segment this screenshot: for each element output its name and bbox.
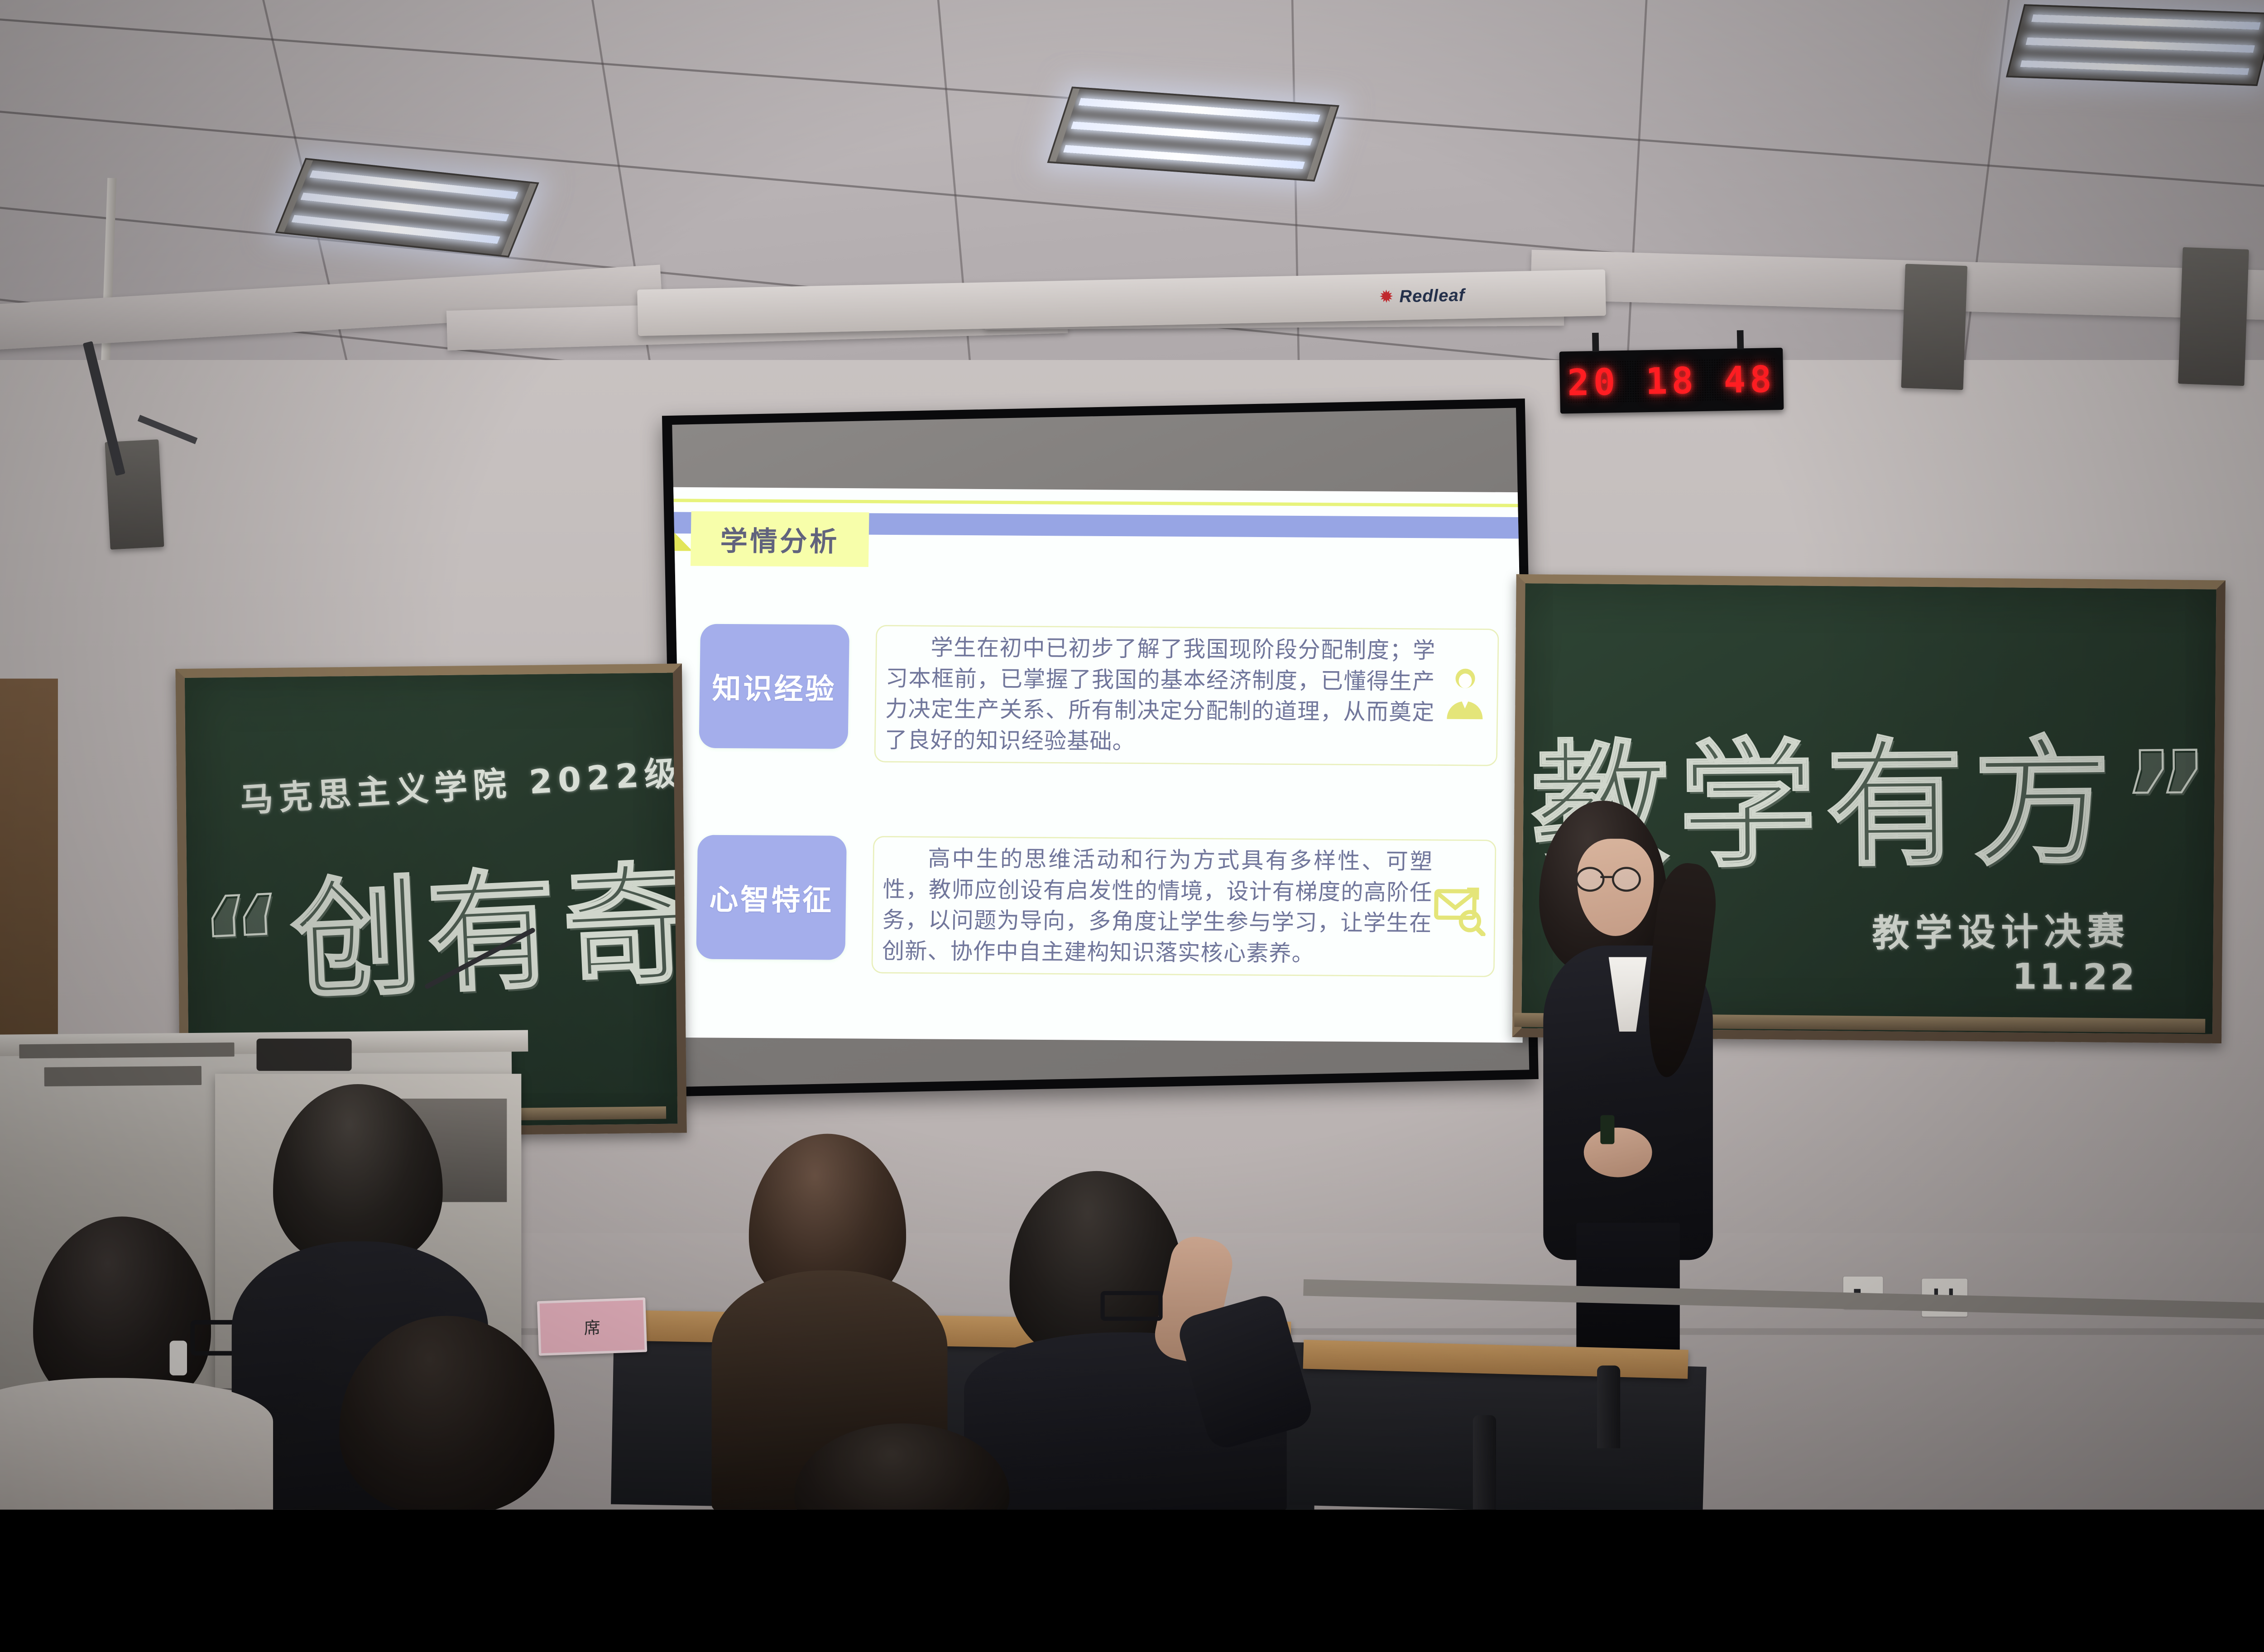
wall-speaker (2178, 247, 2249, 386)
chalk-text-slogan: “创有奇思 (196, 813, 686, 1028)
slide-accent-bar-yellow (672, 499, 1529, 507)
slide-block-row: 知识经验 学生在初中已初步了解了我国现阶段分配制度；学习本框前，已掌握了我国的基… (699, 624, 1499, 766)
ceiling-light-panel (275, 158, 539, 258)
slide-block-text: 高中生的思维活动和行为方式具有多样性、可塑性，教师应创设有启发性的情境，设计有梯… (882, 843, 1433, 970)
presentation-clicker[interactable] (1600, 1115, 1614, 1144)
audience-member (314, 1316, 571, 1510)
student-person-icon (1440, 667, 1490, 721)
screen-brand-label: ✹ Redleaf (1379, 285, 1465, 307)
chalk-text-class: 马克思主义学院 2022级 (239, 746, 685, 821)
wall-speaker (1901, 264, 1967, 390)
ceiling-light-panel (2006, 4, 2264, 86)
glasses-icon (1101, 1291, 1163, 1321)
glasses-icon (1576, 867, 1638, 888)
slide-block-body: 高中生的思维活动和行为方式具有多样性、可塑性，教师应创设有启发性的情境，设计有梯… (871, 836, 1496, 977)
slide-block-row: 心智特征 高中生的思维活动和行为方式具有多样性、可塑性，教师应创设有启发性的情境… (696, 835, 1497, 977)
desk-leg (1473, 1415, 1496, 1509)
brand-star-icon: ✹ (1379, 287, 1394, 307)
presentation-slide: 学情分析 知识经验 学生在初中已初步了解了我国现阶段分配制度；学习本框前，已掌握… (672, 487, 1529, 1043)
slide-block-body: 学生在初中已初步了解了我国现阶段分配制度；学习本框前，已掌握了我国的基本经济制度… (874, 625, 1499, 766)
presenter-hands (1584, 1128, 1652, 1177)
led-wall-clock: 20 18 48 (1559, 348, 1784, 414)
slide-block-text: 学生在初中已初步了解了我国现阶段分配制度；学习本框前，已掌握了我国的基本经济制度… (885, 632, 1436, 759)
chalk-text-date: 11.22 (2012, 956, 2138, 999)
desk-leg (1597, 1365, 1620, 1448)
desk-row (1289, 1356, 1707, 1509)
slide-title: 学情分析 (720, 519, 839, 559)
chalk-text-subline: 教学设计决赛 (1872, 901, 2130, 957)
slide-block-tag: 心智特征 (696, 835, 847, 960)
slide-block-tag-label: 知识经验 (712, 665, 836, 708)
slide-title-tab: 学情分析 (691, 511, 869, 567)
ceiling-light-panel (1047, 86, 1339, 182)
projection-surface: 学情分析 知识经验 学生在初中已初步了解了我国现阶段分配制度；学习本框前，已掌握… (672, 408, 1529, 1087)
audience-member (794, 1423, 1009, 1509)
projector-screen: 学情分析 知识经验 学生在初中已初步了解了我国现阶段分配制度；学习本框前，已掌握… (662, 399, 1539, 1096)
slide-block-tag-label: 心智特征 (709, 876, 834, 919)
earbud-icon (170, 1341, 187, 1376)
classroom-scene: 20 18 48 ✹ Redleaf 学情分析 知识经验 (0, 0, 2264, 1509)
audience-member (968, 1167, 1316, 1510)
envelope-search-icon (1434, 886, 1487, 936)
slide-title-corner-flag (674, 533, 693, 551)
presenter-speaker (1539, 801, 1717, 1351)
clock-display: 20 18 48 (1567, 358, 1776, 404)
nameplate-text: 席 (583, 1314, 600, 1339)
audience-member (0, 1378, 273, 1510)
classroom-door[interactable] (0, 679, 58, 1093)
slide-block-tag: 知识经验 (699, 624, 850, 749)
av-equipment-box (257, 1038, 352, 1071)
